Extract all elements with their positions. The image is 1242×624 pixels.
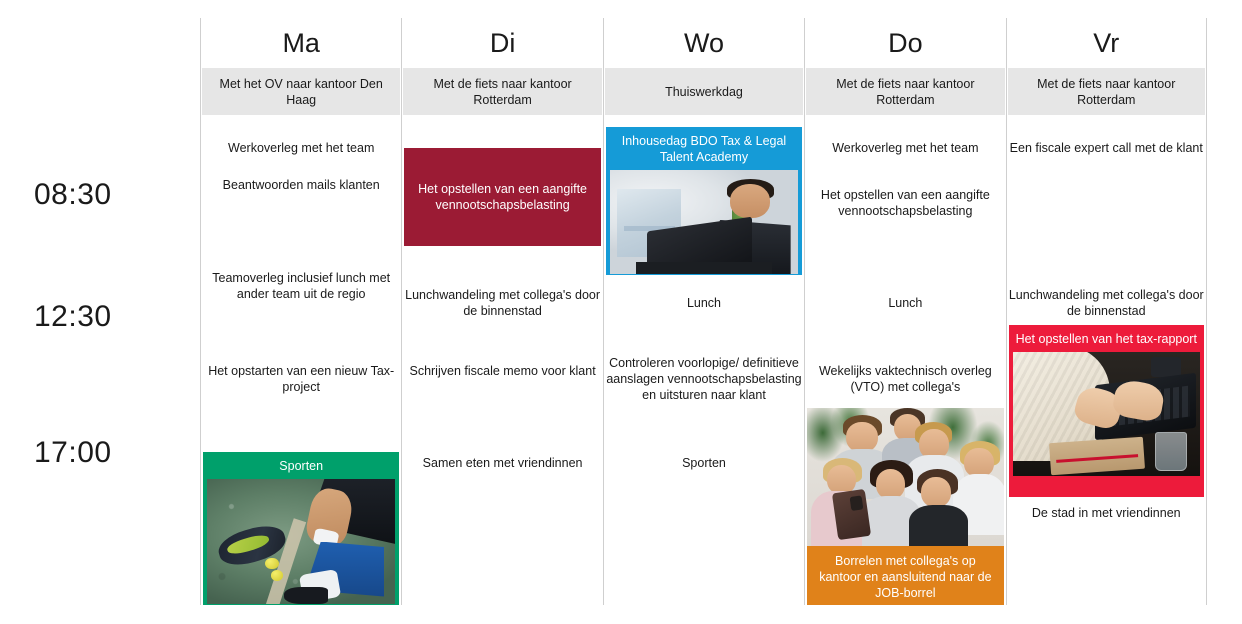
- schedule-item[interactable]: Lunch: [606, 295, 802, 311]
- schedule-item[interactable]: Controleren voorlopige/ definitieve aans…: [606, 355, 802, 403]
- day-body-do: Werkoverleg met het team Het opstellen v…: [805, 115, 1005, 605]
- day-name-do: Do: [805, 18, 1005, 68]
- event-card-title: Het opstellen van een aangifte vennootsc…: [404, 181, 600, 213]
- schedule-item[interactable]: Samen eten met vriendinnen: [404, 455, 600, 471]
- event-card-tax-rapport[interactable]: Het opstellen van het tax-rapport: [1009, 325, 1204, 497]
- time-gutter: 08:30 12:30 17:00: [0, 0, 200, 624]
- event-card-job-borrel[interactable]: Borrelen met collega's op kantoor en aan…: [807, 408, 1003, 605]
- schedule-item[interactable]: Teamoverleg inclusief lunch met ander te…: [203, 270, 399, 302]
- schedule-item[interactable]: Een fiscale expert call met de klant: [1009, 140, 1204, 156]
- schedule-item[interactable]: Lunchwandeling met collega's door de bin…: [1009, 287, 1204, 319]
- day-column-wo[interactable]: Wo Thuiswerkdag Inhousedag BDO Tax & Leg…: [603, 18, 804, 605]
- event-card-sporten[interactable]: Sporten: [203, 452, 399, 605]
- man-with-laptop-photo: [610, 170, 798, 274]
- day-subtitle-do: Met de fiets naar kantoor Rotterdam: [806, 68, 1004, 115]
- day-name-vr: Vr: [1007, 18, 1206, 68]
- week-grid: Ma Met het OV naar kantoor Den Haag Werk…: [200, 18, 1207, 605]
- day-subtitle-wo: Thuiswerkdag: [605, 68, 803, 115]
- day-subtitle-di: Met de fiets naar kantoor Rotterdam: [403, 68, 601, 115]
- time-label-1230: 12:30: [34, 302, 112, 332]
- day-name-wo: Wo: [604, 18, 804, 68]
- schedule-item[interactable]: Sporten: [606, 455, 802, 471]
- schedule-item[interactable]: Lunchwandeling met collega's door de bin…: [404, 287, 600, 319]
- schedule-item[interactable]: Het opstellen van een aangifte vennootsc…: [807, 187, 1003, 219]
- event-card-title: Borrelen met collega's op kantoor en aan…: [807, 546, 1003, 605]
- hands-typing-photo: [1013, 352, 1200, 476]
- day-body-wo: Inhousedag BDO Tax & Legal Talent Academ…: [604, 115, 804, 605]
- day-column-di[interactable]: Di Met de fiets naar kantoor Rotterdam H…: [401, 18, 602, 605]
- event-card-title: Sporten: [203, 452, 399, 479]
- group-selfie-photo: [807, 408, 1003, 546]
- schedule-item[interactable]: Werkoverleg met het team: [807, 140, 1003, 156]
- day-column-do[interactable]: Do Met de fiets naar kantoor Rotterdam W…: [804, 18, 1005, 605]
- event-card-title: Inhousedag BDO Tax & Legal Talent Academ…: [606, 127, 802, 170]
- schedule-item[interactable]: Schrijven fiscale memo voor klant: [404, 363, 600, 379]
- day-column-ma[interactable]: Ma Met het OV naar kantoor Den Haag Werk…: [200, 18, 401, 605]
- schedule-item[interactable]: Lunch: [807, 295, 1003, 311]
- time-label-1700: 17:00: [34, 438, 112, 468]
- day-body-di: Het opstellen van een aangifte vennootsc…: [402, 115, 602, 605]
- event-card-inhousedag[interactable]: Inhousedag BDO Tax & Legal Talent Academ…: [606, 127, 802, 275]
- padel-sport-photo: [207, 479, 395, 604]
- event-card-title: Het opstellen van het tax-rapport: [1009, 325, 1204, 352]
- schedule-item[interactable]: Wekelijks vaktechnisch overleg (VTO) met…: [807, 363, 1003, 395]
- day-body-vr: Een fiscale expert call met de klant Lun…: [1007, 115, 1206, 605]
- schedule-item[interactable]: Het opstarten van een nieuw Tax-project: [203, 363, 399, 395]
- day-subtitle-vr: Met de fiets naar kantoor Rotterdam: [1008, 68, 1205, 115]
- day-name-ma: Ma: [201, 18, 401, 68]
- schedule-item[interactable]: Werkoverleg met het team: [203, 140, 399, 156]
- schedule-item[interactable]: Beantwoorden mails klanten: [203, 177, 399, 193]
- schedule-item[interactable]: De stad in met vriendinnen: [1009, 505, 1204, 521]
- day-body-ma: Werkoverleg met het team Beantwoorden ma…: [201, 115, 401, 605]
- event-card-aangifte-vpb[interactable]: Het opstellen van een aangifte vennootsc…: [404, 148, 600, 246]
- day-subtitle-ma: Met het OV naar kantoor Den Haag: [202, 68, 400, 115]
- day-column-vr[interactable]: Vr Met de fiets naar kantoor Rotterdam E…: [1006, 18, 1207, 605]
- time-label-0830: 08:30: [34, 180, 112, 210]
- day-name-di: Di: [402, 18, 602, 68]
